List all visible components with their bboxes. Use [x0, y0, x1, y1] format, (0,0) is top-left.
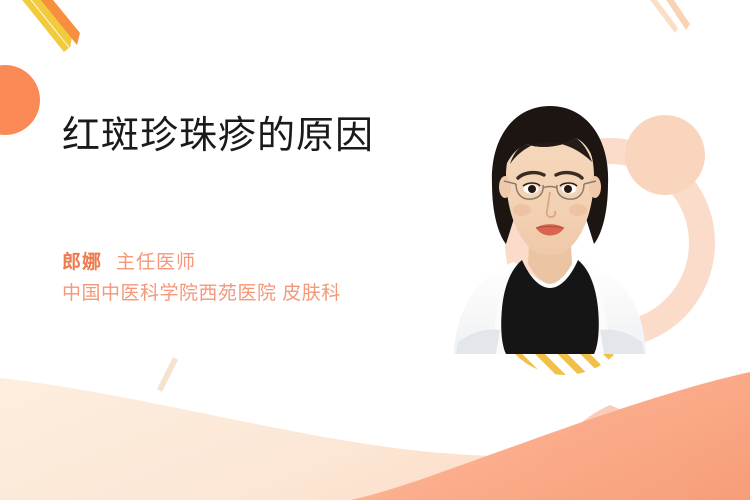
orange-circle-decor	[0, 65, 40, 135]
small-diagonal-stroke-icon	[157, 357, 178, 392]
cheek-left	[513, 204, 531, 216]
pupil-left	[528, 185, 536, 193]
doctor-name: 郎娜	[62, 252, 102, 273]
pupil-right	[564, 185, 572, 193]
cheek-right	[569, 204, 587, 216]
health-article-cover-card: 红斑珍珠疹的原因 郎娜主任医师 中国中医科学院西苑医院 皮肤科	[0, 0, 750, 500]
doctor-title: 主任医师	[116, 252, 196, 273]
doctor-affiliation: 中国中医科学院西苑医院 皮肤科	[62, 278, 482, 310]
diagonal-stroke-pair-peach-icon	[644, 0, 690, 33]
doctor-line: 郎娜主任医师	[62, 248, 482, 278]
page-title: 红斑珍珠疹的原因	[62, 112, 462, 160]
doctor-portrait	[452, 92, 648, 354]
doctor-credit-block: 郎娜主任医师 中国中医科学院西苑医院 皮肤科	[62, 248, 482, 310]
title-block: 红斑珍珠疹的原因	[62, 112, 462, 160]
ear-left	[499, 176, 511, 198]
ear-right	[589, 176, 601, 198]
